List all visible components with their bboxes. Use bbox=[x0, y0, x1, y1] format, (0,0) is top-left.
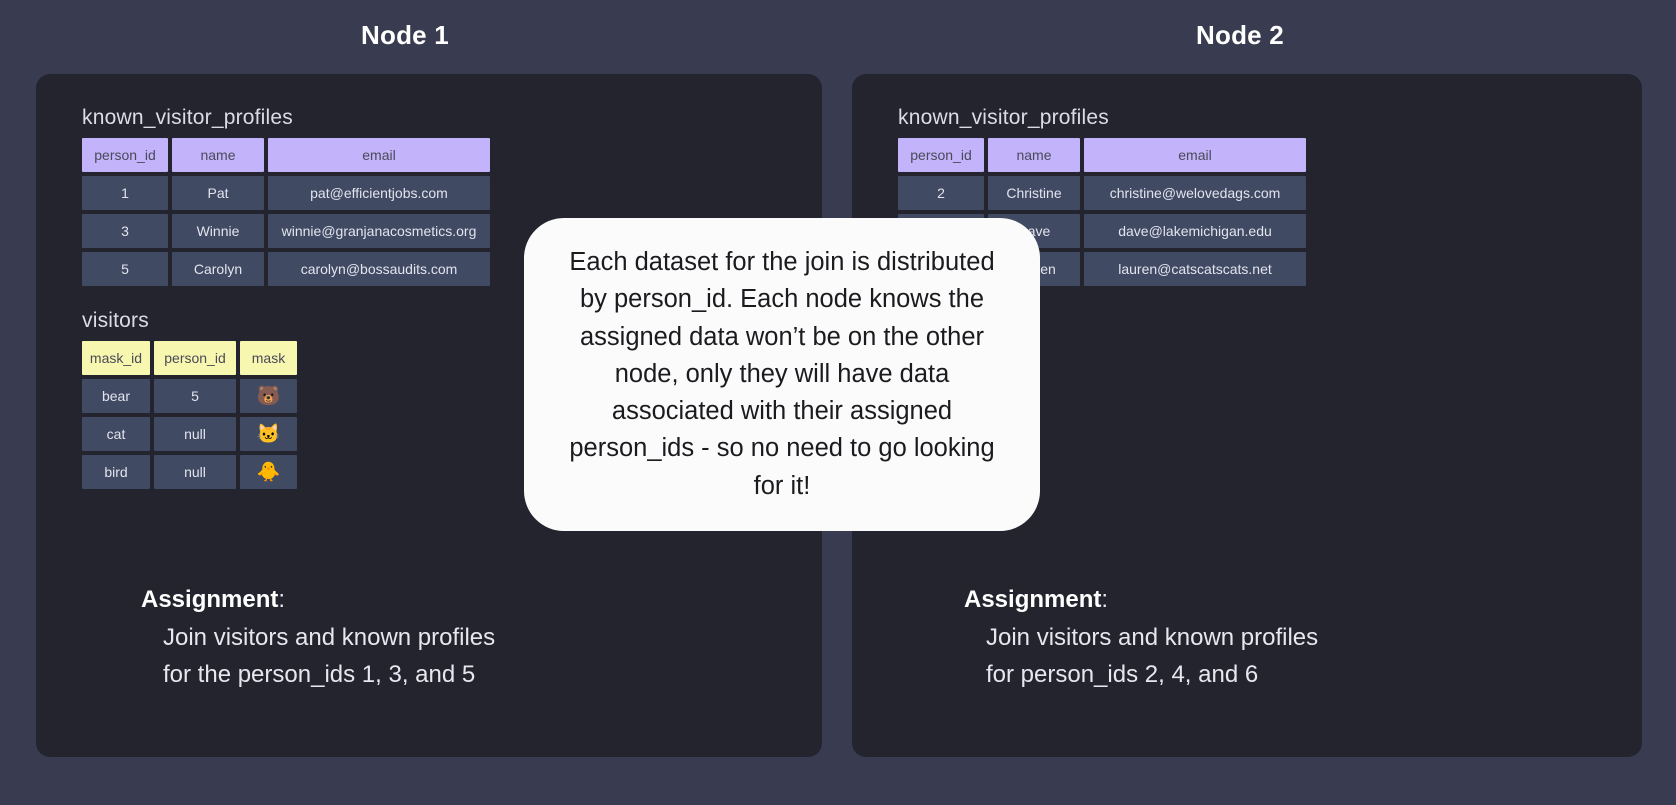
cell-person-id: 1 bbox=[82, 176, 168, 210]
bird-icon: 🐥 bbox=[240, 455, 297, 489]
assignment-colon: : bbox=[278, 586, 285, 613]
column-header-email: email bbox=[1084, 138, 1306, 172]
assignment-line: Join visitors and known profiles bbox=[986, 619, 1318, 656]
column-header-name: name bbox=[172, 138, 264, 172]
node-2-assignment: Assignment: Join visitors and known prof… bbox=[964, 581, 1318, 693]
node-1-title: Node 1 bbox=[280, 20, 530, 51]
table-row: 1 Pat pat@efficientjobs.com bbox=[82, 176, 490, 210]
column-header-mask-id: mask_id bbox=[82, 341, 150, 375]
cell-email: pat@efficientjobs.com bbox=[268, 176, 490, 210]
table-grid: person_id name email 1 Pat pat@efficient… bbox=[82, 138, 490, 286]
node-titles: Node 1 Node 2 bbox=[0, 0, 1676, 70]
table-caption: visitors bbox=[82, 309, 297, 333]
column-header-email: email bbox=[268, 138, 490, 172]
table-header-row: person_id name email bbox=[898, 138, 1306, 172]
column-header-mask: mask bbox=[240, 341, 297, 375]
node-1-visitors-table: visitors mask_id person_id mask bear 5 🐻… bbox=[82, 309, 297, 489]
cell-name: Pat bbox=[172, 176, 264, 210]
cell-mask-id: bear bbox=[82, 379, 150, 413]
cell-email: dave@lakemichigan.edu bbox=[1084, 214, 1306, 248]
cell-email: lauren@catscatscats.net bbox=[1084, 252, 1306, 286]
cell-email: carolyn@bossaudits.com bbox=[268, 252, 490, 286]
table-row: cat null 🐱 bbox=[82, 417, 297, 451]
bear-icon: 🐻 bbox=[240, 379, 297, 413]
callout-text: Each dataset for the join is distributed… bbox=[564, 244, 1000, 505]
table-row: 5 Carolyn carolyn@bossaudits.com bbox=[82, 252, 490, 286]
cat-icon: 🐱 bbox=[240, 417, 297, 451]
column-header-person-id: person_id bbox=[898, 138, 984, 172]
cell-name: Christine bbox=[988, 176, 1080, 210]
node-1-assignment: Assignment: Join visitors and known prof… bbox=[141, 581, 495, 693]
column-header-name: name bbox=[988, 138, 1080, 172]
cell-mask-id: cat bbox=[82, 417, 150, 451]
table-row: bear 5 🐻 bbox=[82, 379, 297, 413]
cell-person-id: null bbox=[154, 417, 236, 451]
assignment-body: Join visitors and known profiles for the… bbox=[163, 619, 495, 693]
cell-person-id: 5 bbox=[82, 252, 168, 286]
diagram-canvas: Node 1 Node 2 known_visitor_profiles per… bbox=[0, 0, 1676, 805]
table-header-row: person_id name email bbox=[82, 138, 490, 172]
node-2-title: Node 2 bbox=[1115, 20, 1365, 51]
cell-person-id: 5 bbox=[154, 379, 236, 413]
table-caption: known_visitor_profiles bbox=[82, 106, 490, 130]
cell-person-id: 2 bbox=[898, 176, 984, 210]
table-row: 3 Winnie winnie@granjanacosmetics.org bbox=[82, 214, 490, 248]
table-caption: known_visitor_profiles bbox=[898, 106, 1306, 130]
cell-name: Winnie bbox=[172, 214, 264, 248]
explanation-callout: Each dataset for the join is distributed… bbox=[524, 218, 1040, 531]
column-header-person-id: person_id bbox=[82, 138, 168, 172]
assignment-label: Assignment bbox=[964, 586, 1101, 613]
assignment-label: Assignment bbox=[141, 586, 278, 613]
assignment-line: for the person_ids 1, 3, and 5 bbox=[163, 656, 495, 693]
cell-name: Carolyn bbox=[172, 252, 264, 286]
table-header-row: mask_id person_id mask bbox=[82, 341, 297, 375]
table-grid: mask_id person_id mask bear 5 🐻 cat null… bbox=[82, 341, 297, 489]
cell-mask-id: bird bbox=[82, 455, 150, 489]
node-1-known-visitor-profiles-table: known_visitor_profiles person_id name em… bbox=[82, 106, 490, 286]
column-header-person-id: person_id bbox=[154, 341, 236, 375]
cell-email: christine@welovedags.com bbox=[1084, 176, 1306, 210]
assignment-colon: : bbox=[1101, 586, 1108, 613]
table-row: 2 Christine christine@welovedags.com bbox=[898, 176, 1306, 210]
cell-person-id: null bbox=[154, 455, 236, 489]
table-row: bird null 🐥 bbox=[82, 455, 297, 489]
assignment-body: Join visitors and known profiles for per… bbox=[986, 619, 1318, 693]
cell-person-id: 3 bbox=[82, 214, 168, 248]
assignment-line: Join visitors and known profiles bbox=[163, 619, 495, 656]
assignment-line: for person_ids 2, 4, and 6 bbox=[986, 656, 1318, 693]
cell-email: winnie@granjanacosmetics.org bbox=[268, 214, 490, 248]
